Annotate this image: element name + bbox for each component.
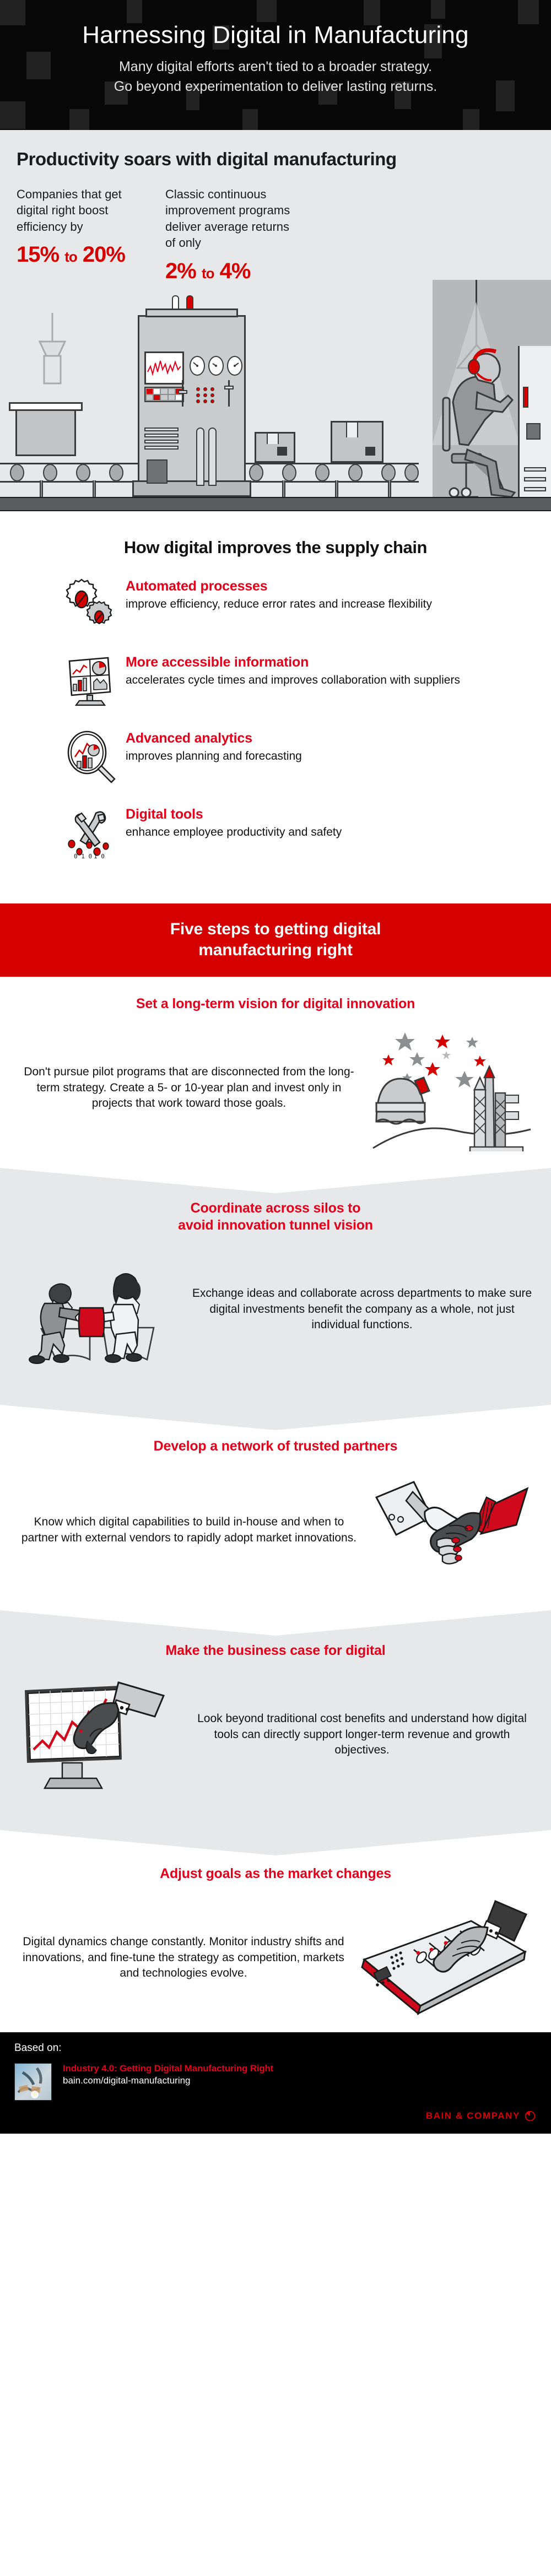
footer-based-on-label: Based on: [14,2042,537,2054]
productivity-stat-value: 2% to 4% [165,260,298,282]
mixing-console-hand-icon [358,1895,534,2021]
productivity-stat-card: Companies that get digital right boost e… [17,186,149,282]
machine-access-panel [147,459,168,484]
stat-end: 4% [220,259,251,283]
productivity-stat-value: 15% to 20% [17,243,149,266]
section-notch-top [0,1610,551,1636]
step-heading-line2: avoid innovation tunnel vision [17,1217,534,1234]
stat-from: 2% [165,259,196,283]
step-copy: Know which digital capabilities to build… [17,1514,361,1546]
monitor-growth-chart-hand-icon [17,1671,182,1798]
supply-chain-item-title: Automated processes [126,578,432,594]
machine-keypad [144,387,184,402]
status-lamp-red [186,295,193,310]
step-coordinate-across-silos: Coordinate across silos to avoid innovat… [0,1168,551,1405]
step-set-long-term-vision: Set a long-term vision for digital innov… [0,977,551,1168]
productivity-stat-card: Classic continuous improvement programs … [165,186,298,282]
supply-chain-item-desc: enhance employee productivity and safety [126,825,342,840]
header-subtitle: Many digital efforts aren't tied to a br… [0,57,551,96]
supply-chain-item: Advanced analytics improves planning and… [0,728,551,786]
wall-console [518,346,551,511]
step-heading-line1: Coordinate across silos to [17,1200,534,1217]
stat-to: to [202,265,214,282]
bain-logo: BAIN & COMPANY [426,2110,536,2122]
step-copy: Exchange ideas and collaborate across de… [190,1286,534,1333]
banner-line2: manufacturing right [0,940,551,961]
step-heading: Coordinate across silos to avoid innovat… [17,1200,534,1234]
productivity-stats: Companies that get digital right boost e… [0,170,551,282]
supply-chain-section: How digital improves the supply chain [0,511,551,903]
svg-text:0 1 0: 0 1 0 [74,853,92,860]
two-people-passing-block-icon [17,1246,182,1373]
monitor-dashboard-icon [61,652,120,710]
stat-end: 20% [83,242,125,267]
step-copy: Digital dynamics change constantly. Moni… [17,1934,350,1982]
supply-chain-item-desc: improve efficiency, reduce error rates a… [126,597,432,612]
supply-chain-item: 0 1 0 1 0 Digital tools enhance employee… [0,804,551,862]
machine-tubes [196,427,218,486]
cardboard-box [255,432,295,463]
step-adjust-goals: Adjust goals as the market changes Digit… [0,1830,551,2032]
rocket-launchpad-icon [369,1025,534,1151]
indicator-lights [196,387,215,403]
cardboard-box [331,421,383,463]
footer-link-title[interactable]: Industry 4.0: Getting Digital Manufactur… [63,2063,273,2074]
supply-chain-item: More accessible information accelerates … [0,652,551,710]
footer-article-link[interactable]: Industry 4.0: Getting Digital Manufactur… [63,2063,273,2086]
infographic-page: Harnessing Digital in Manufacturing Many… [0,0,551,2134]
productivity-stat-text: Companies that get digital right boost e… [17,186,149,235]
crane-arm-icon [33,313,72,401]
factory-floor [0,497,551,511]
step-heading: Adjust goals as the market changes [17,1865,534,1882]
status-lamp-white [172,295,179,310]
svg-text:1 0: 1 0 [94,853,105,860]
factory-illustration [0,280,551,511]
productivity-stat-text: Classic continuous improvement programs … [165,186,298,251]
banner-line1: Five steps to getting digital [0,919,551,940]
step-heading: Make the business case for digital [17,1642,534,1659]
footer-link-url[interactable]: bain.com/digital-manufacturing [63,2075,273,2086]
step-copy: Don't pursue pilot programs that are dis… [17,1064,361,1112]
footer: Based on: [0,2032,551,2134]
step-develop-network-of-partners: Develop a network of trusted partners Kn… [0,1405,551,1610]
bain-circle-mark-icon [525,2110,536,2122]
supply-chain-item-desc: improves planning and forecasting [126,749,302,764]
step-heading: Set a long-term vision for digital innov… [17,995,534,1013]
supply-chain-item-title: Advanced analytics [126,730,302,746]
supply-chain-item-title: Digital tools [126,807,342,822]
header-banner: Harnessing Digital in Manufacturing Many… [0,0,551,130]
hopper-icon [15,409,76,456]
page-title: Harnessing Digital in Manufacturing [0,22,551,48]
supply-chain-item-desc: accelerates cycle times and improves col… [126,673,460,688]
hopper-lid [9,402,83,411]
stat-to: to [64,248,77,265]
bain-wordmark: BAIN & COMPANY [426,2110,520,2122]
handshake-icon [369,1467,534,1594]
productivity-section: Productivity soars with digital manufact… [0,130,551,511]
step-copy: Look beyond traditional cost benefits an… [190,1711,534,1758]
step-make-business-case: Make the business case for digital Look … [0,1610,551,1830]
gears-icon [61,576,120,634]
stat-from: 15% [17,242,59,267]
step-heading: Develop a network of trusted partners [17,1438,534,1455]
productivity-heading: Productivity soars with digital manufact… [0,130,551,170]
tools-icon: 0 1 0 1 0 [61,804,120,862]
header-subtitle-line2: Go beyond experimentation to deliver las… [0,77,551,97]
section-notch-top [0,1168,551,1193]
magnifier-chart-icon [61,728,120,786]
five-steps-banner: Five steps to getting digital manufactur… [0,903,551,977]
supply-chain-item: Automated processes improve efficiency, … [0,576,551,634]
supply-chain-heading: How digital improves the supply chain [0,538,551,558]
machine-top-cap [145,309,238,317]
header-subtitle-line1: Many digital efforts aren't tied to a br… [0,57,551,77]
article-thumbnail [14,2063,52,2101]
hmi-screen [144,351,184,385]
supply-chain-item-title: More accessible information [126,654,460,670]
machine-vents [144,427,179,452]
